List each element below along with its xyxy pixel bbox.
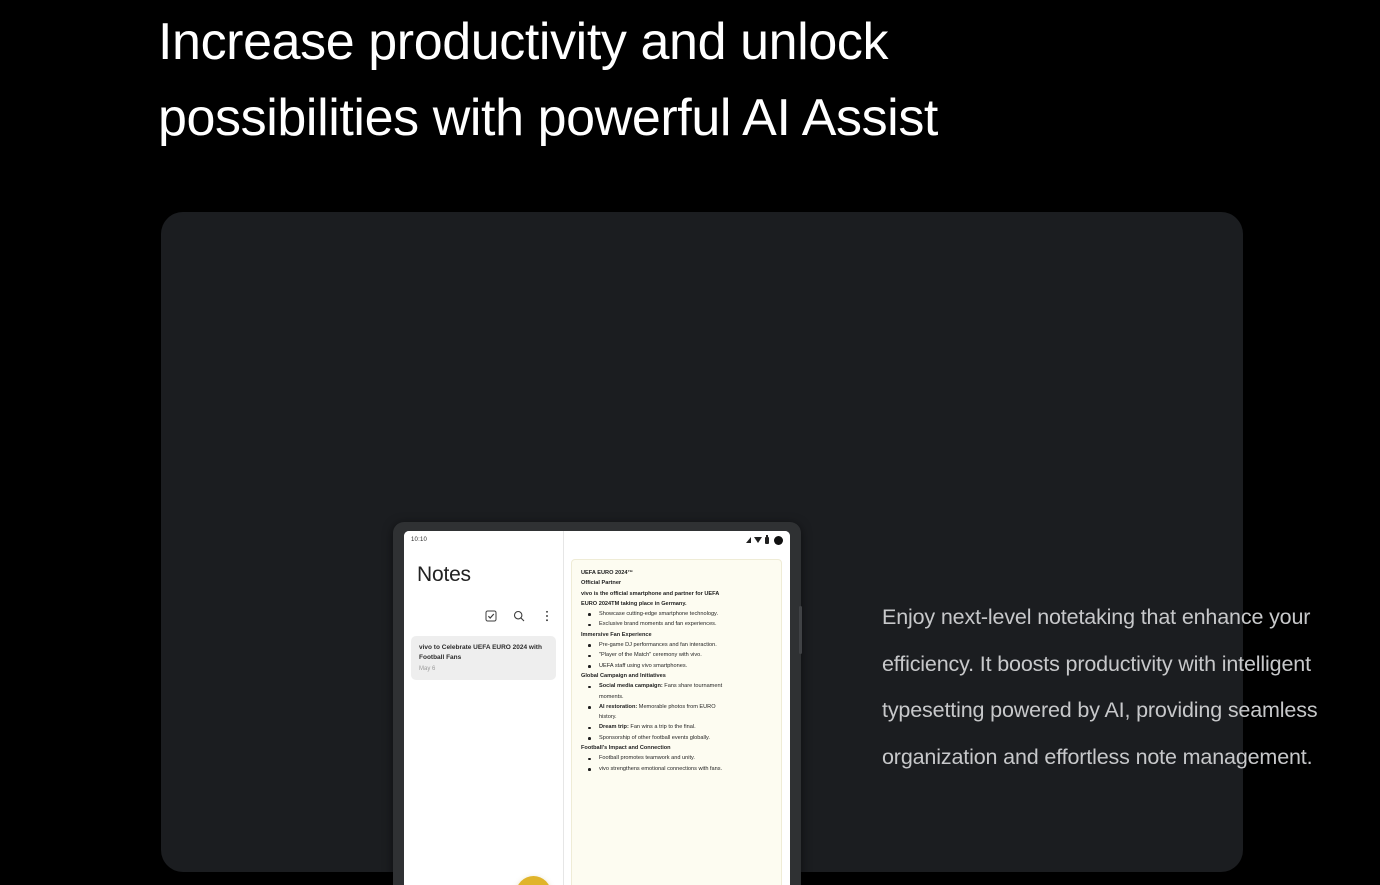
feature-description: Enjoy next-level notetaking that enhance… <box>882 594 1352 780</box>
feature-description-text: Enjoy next-level notetaking that enhance… <box>882 594 1352 780</box>
search-icon[interactable] <box>513 610 525 622</box>
note-line: UEFA EURO 2024™ <box>581 568 772 578</box>
page-headline: Increase productivity and unlock possibi… <box>158 4 1248 156</box>
note-bullet: "Player of the Match" ceremony with vivo… <box>581 650 772 660</box>
note-line: Football's Impact and Connection <box>581 743 772 753</box>
more-options-icon[interactable] <box>541 610 553 622</box>
note-bullet-continuation: moments. <box>581 692 772 702</box>
note-bullet: Showcase cutting-edge smartphone technol… <box>581 609 772 619</box>
note-bullet-lead: AI restoration: <box>599 704 637 710</box>
note-editor-pane: UEFA EURO 2024™ Official Partner vivo is… <box>564 531 790 885</box>
note-line: Official Partner <box>581 578 772 588</box>
note-list-item-title: vivo to Celebrate UEFA EURO 2024 with Fo… <box>419 643 548 662</box>
note-line: Global Campaign and Initiatives <box>581 671 772 681</box>
note-bullet-lead: Social media campaign: <box>599 683 663 689</box>
headline-line-2: possibilities with powerful AI Assist <box>158 80 1248 156</box>
new-note-fab-button[interactable]: + <box>516 876 551 885</box>
note-bullet: vivo strengthens emotional connections w… <box>581 764 772 774</box>
note-bullet-lead: Dream trip: <box>599 724 629 730</box>
notes-action-bar <box>485 610 553 622</box>
notes-app-title: Notes <box>417 563 471 587</box>
note-bullet: Dream trip: Fan wins a trip to the final… <box>581 722 772 732</box>
note-bullet: Sponsorship of other football events glo… <box>581 733 772 743</box>
note-content-sheet[interactable]: UEFA EURO 2024™ Official Partner vivo is… <box>571 559 782 885</box>
foldable-device-mockup: 10:10 Notes <box>393 522 801 885</box>
note-line: vivo is the official smartphone and part… <box>581 589 772 599</box>
note-bullet: Pre-game DJ performances and fan interac… <box>581 640 772 650</box>
headline-line-1: Increase productivity and unlock <box>158 4 1248 80</box>
note-bullet: UEFA staff using vivo smartphones. <box>581 661 772 671</box>
note-list-item[interactable]: vivo to Celebrate UEFA EURO 2024 with Fo… <box>411 636 556 680</box>
device-screen: 10:10 Notes <box>404 531 790 885</box>
note-bullet: Social media campaign: Fans share tourna… <box>581 681 772 691</box>
note-bullet-text: Fan wins a trip to the final. <box>629 724 696 730</box>
note-line: Immersive Fan Experience <box>581 630 772 640</box>
note-bullet: Football promotes teamwork and unity. <box>581 753 772 763</box>
note-list-item-date: May 6 <box>419 666 548 672</box>
select-notes-icon[interactable] <box>485 610 497 622</box>
note-bullet: AI restoration: Memorable photos from EU… <box>581 702 772 712</box>
note-bullet-text: Fans share tournament <box>663 683 722 689</box>
note-bullet-continuation: history. <box>581 712 772 722</box>
notes-list-pane: Notes <box>404 531 564 885</box>
note-line: EURO 2024TM taking place in Germany. <box>581 599 772 609</box>
note-bullet-text: Memorable photos from EURO <box>637 704 715 710</box>
feature-panel: 10:10 Notes <box>161 212 1243 872</box>
note-bullet: Exclusive brand moments and fan experien… <box>581 619 772 629</box>
